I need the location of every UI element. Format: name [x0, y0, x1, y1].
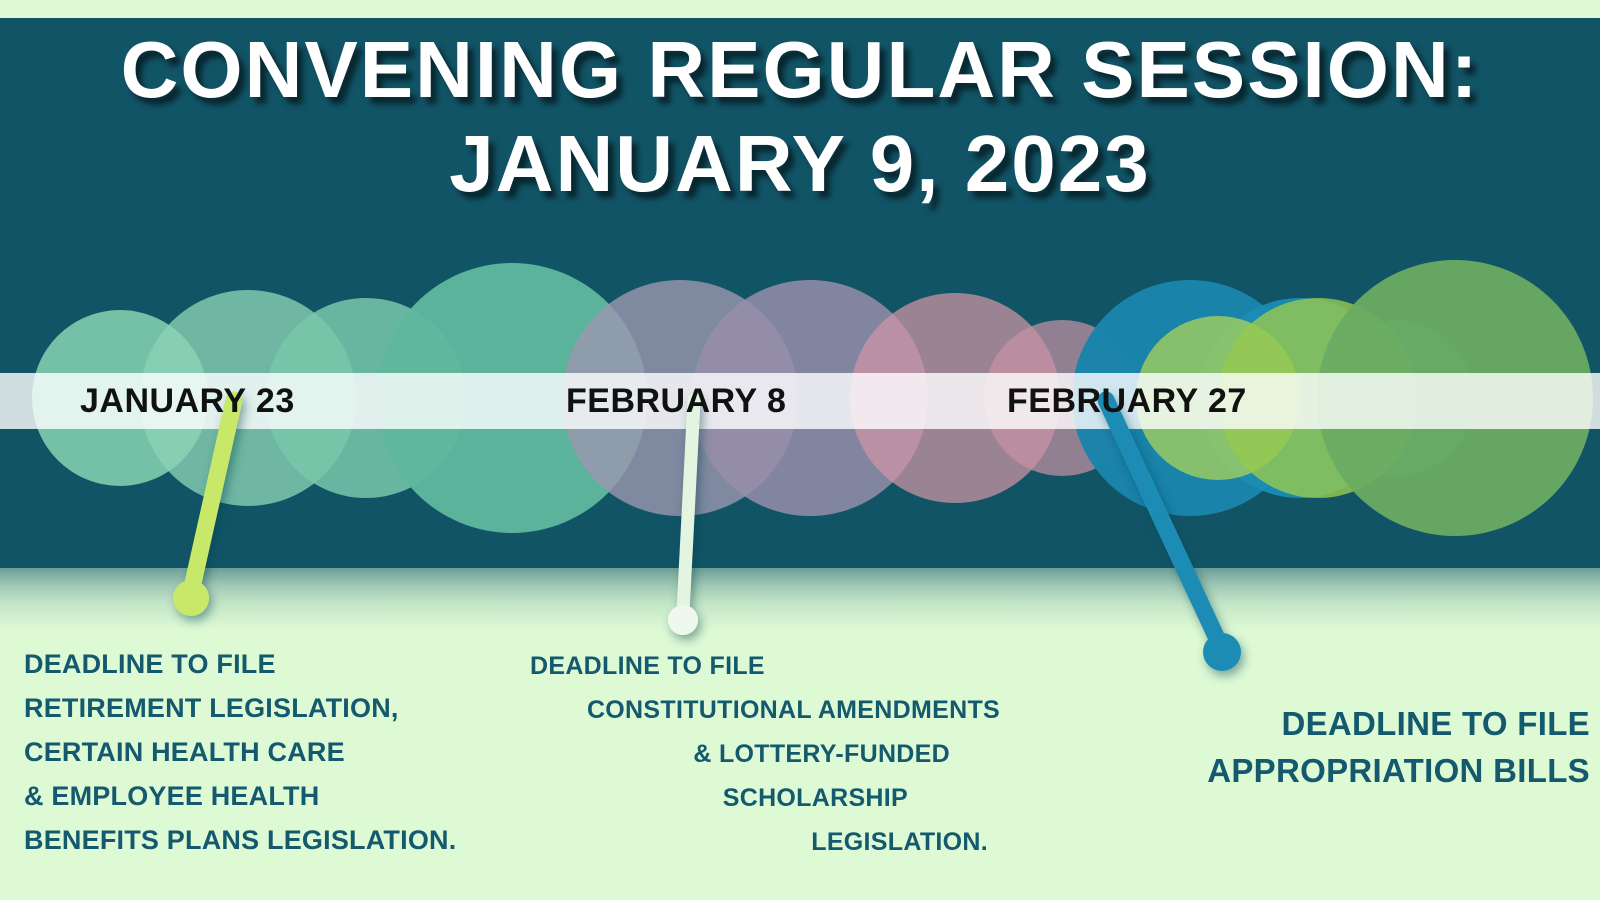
- caption-january-23: DEADLINE TO FILE RETIREMENT LEGISLATION,…: [24, 642, 524, 862]
- caption-line: LEGISLATION.: [500, 820, 1000, 864]
- caption-line: RETIREMENT LEGISLATION,: [24, 686, 524, 730]
- milestone-date-january-23: JANUARY 23: [80, 373, 295, 429]
- caption-line: DEADLINE TO FILE: [500, 644, 1000, 688]
- caption-line: CONSTITUTIONAL AMENDMENTS: [500, 688, 1000, 732]
- caption-line: CERTAIN HEALTH CARE: [24, 730, 524, 774]
- milestone-date-february-8: FEBRUARY 8: [566, 373, 786, 429]
- milestone-date-february-27: FEBRUARY 27: [1007, 373, 1247, 429]
- caption-line: DEADLINE TO FILE: [1080, 700, 1590, 747]
- caption-line: DEADLINE TO FILE: [24, 642, 524, 686]
- infographic-poster: CONVENING REGULAR SESSION: JANUARY 9, 20…: [0, 0, 1600, 900]
- caption-line: BENEFITS PLANS LEGISLATION.: [24, 818, 524, 862]
- caption-line: APPROPRIATION BILLS: [1080, 747, 1590, 794]
- teal-header-panel: [0, 18, 1600, 568]
- caption-line: & LOTTERY-FUNDED: [500, 732, 1000, 776]
- caption-february-27: DEADLINE TO FILE APPROPRIATION BILLS: [1080, 700, 1590, 794]
- caption-line: SCHOLARSHIP: [500, 776, 1000, 820]
- caption-line: & EMPLOYEE HEALTH: [24, 774, 524, 818]
- caption-february-8: DEADLINE TO FILE CONSTITUTIONAL AMENDMEN…: [500, 644, 1000, 864]
